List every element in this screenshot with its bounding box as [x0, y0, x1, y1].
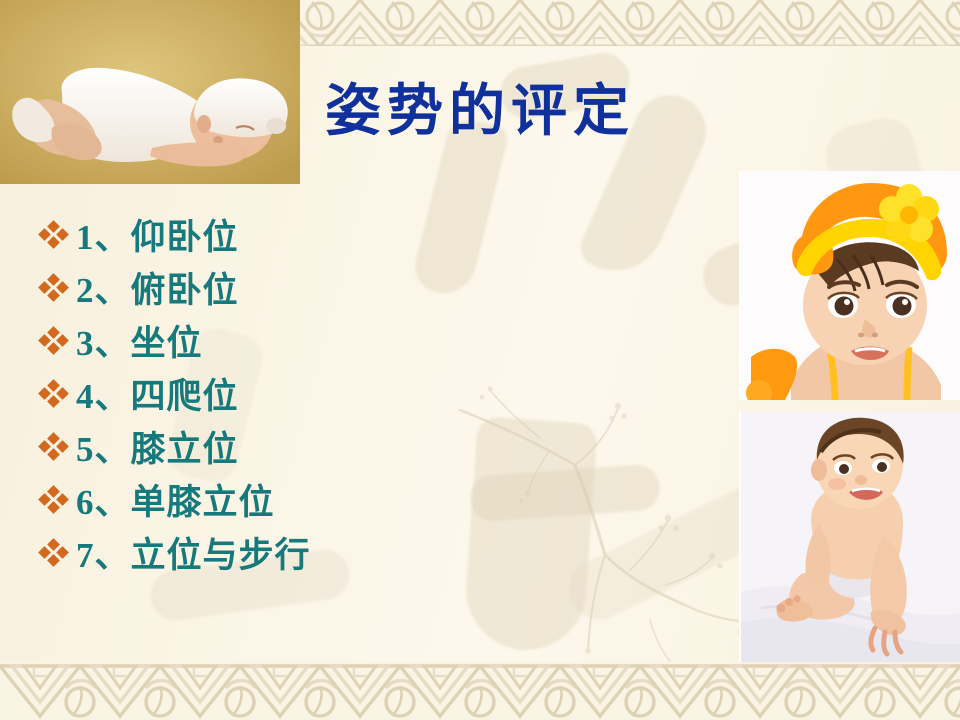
diamond-cluster-bullet-icon [40, 486, 70, 514]
list-item-label: 5、膝立位 [76, 421, 239, 472]
sleeping-newborn-photo [0, 0, 300, 184]
list-item[interactable]: 7、立位与步行 [40, 526, 470, 579]
presentation-slide: 姿势的评定 1、仰卧位 2、俯卧位 3、坐位 4、四爬位 [0, 0, 960, 720]
list-item-label: 1、仰卧位 [76, 209, 239, 260]
list-item[interactable]: 6、单膝立位 [40, 473, 470, 526]
baby-orange-hat-photo [739, 171, 960, 400]
list-item-label: 3、坐位 [76, 315, 203, 366]
slide-title: 姿势的评定 [325, 82, 635, 144]
diamond-cluster-bullet-icon [40, 221, 70, 249]
list-item-label: 4、四爬位 [76, 368, 239, 419]
diamond-cluster-bullet-icon [40, 380, 70, 408]
diamond-cluster-bullet-icon [40, 539, 70, 567]
sitting-baby-photo [739, 412, 960, 662]
list-item[interactable]: 1、仰卧位 [40, 208, 470, 261]
list-item-label: 2、俯卧位 [76, 262, 239, 313]
diamond-cluster-bullet-icon [40, 274, 70, 302]
list-item[interactable]: 4、四爬位 [40, 367, 470, 420]
diamond-cluster-bullet-icon [40, 327, 70, 355]
agenda-list: 1、仰卧位 2、俯卧位 3、坐位 4、四爬位 5、膝立位 [40, 208, 470, 579]
list-item[interactable]: 3、坐位 [40, 314, 470, 367]
list-item-label: 6、单膝立位 [76, 474, 275, 525]
list-item-label: 7、立位与步行 [76, 527, 311, 578]
bottom-decorative-border [0, 662, 960, 720]
list-item[interactable]: 5、膝立位 [40, 420, 470, 473]
list-item[interactable]: 2、俯卧位 [40, 261, 470, 314]
diamond-cluster-bullet-icon [40, 433, 70, 461]
